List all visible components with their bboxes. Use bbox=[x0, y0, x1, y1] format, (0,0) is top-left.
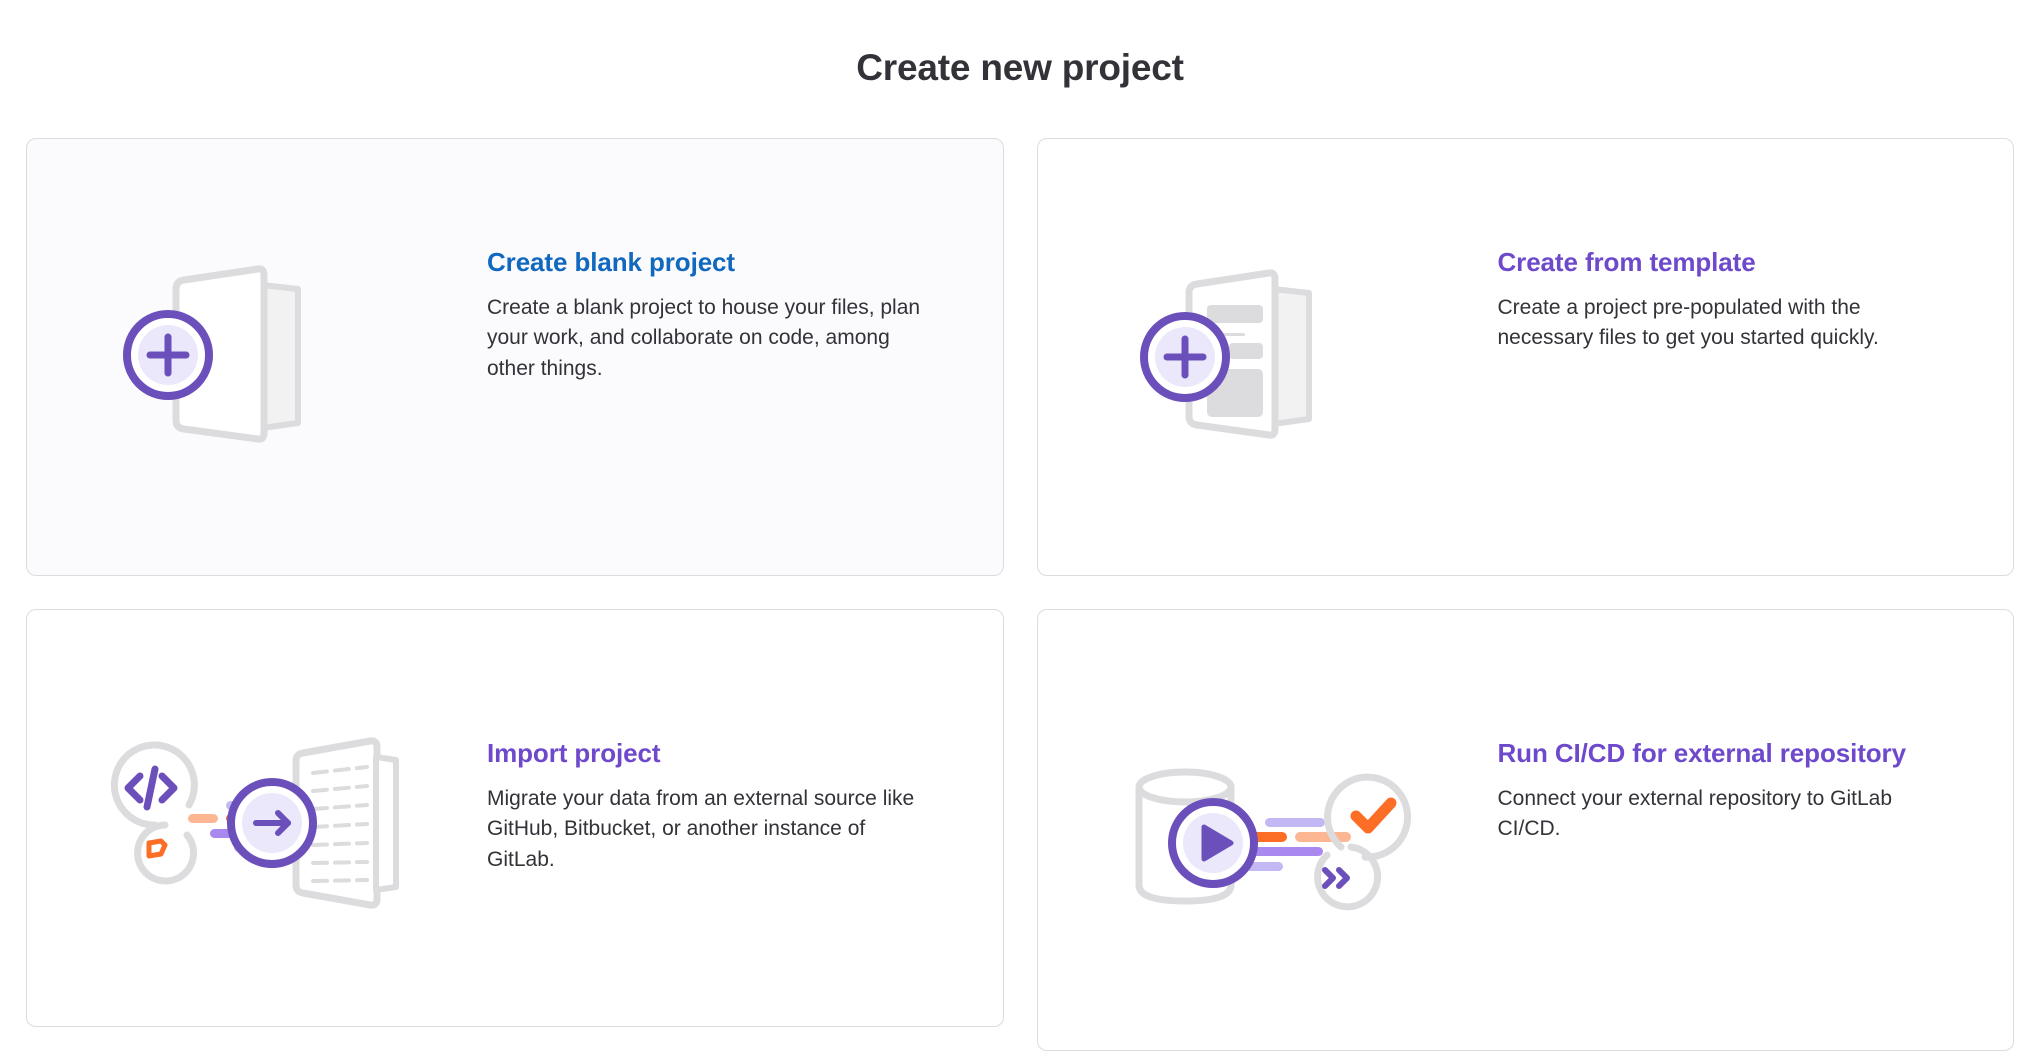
card-import-project[interactable]: Import project Migrate your data from an… bbox=[26, 609, 1004, 1027]
card-description: Create a project pre-populated with the … bbox=[1498, 293, 1938, 354]
card-title[interactable]: Run CI/CD for external repository bbox=[1498, 738, 1938, 770]
card-description: Migrate your data from an external sourc… bbox=[487, 784, 927, 875]
blank-project-illustration bbox=[27, 139, 487, 575]
card-create-from-template[interactable]: Create from template Create a project pr… bbox=[1037, 138, 2015, 576]
card-row-bottom: Import project Migrate your data from an… bbox=[26, 609, 2014, 1051]
card-body: Import project Migrate your data from an… bbox=[487, 610, 987, 875]
page-title: Create new project bbox=[0, 47, 2040, 89]
import-project-illustration bbox=[27, 610, 487, 1026]
create-new-project-page: Create new project bbox=[0, 0, 2040, 1059]
card-body: Create blank project Create a blank proj… bbox=[487, 139, 987, 384]
card-row-top: Create blank project Create a blank proj… bbox=[26, 138, 2014, 576]
template-project-svg bbox=[1123, 247, 1423, 467]
card-body: Run CI/CD for external repository Connec… bbox=[1498, 610, 1998, 845]
import-project-svg bbox=[92, 703, 432, 933]
project-type-card-grid: Create blank project Create a blank proj… bbox=[26, 138, 2014, 1051]
template-project-illustration bbox=[1038, 139, 1498, 575]
card-description: Connect your external repository to GitL… bbox=[1498, 784, 1938, 845]
cicd-external-repo-svg bbox=[1103, 715, 1443, 945]
blank-project-svg bbox=[112, 247, 412, 467]
cicd-external-repo-illustration bbox=[1038, 610, 1498, 1050]
card-title[interactable]: Import project bbox=[487, 738, 927, 770]
card-create-blank-project[interactable]: Create blank project Create a blank proj… bbox=[26, 138, 1004, 576]
card-title[interactable]: Create from template bbox=[1498, 247, 1938, 279]
card-body: Create from template Create a project pr… bbox=[1498, 139, 1998, 354]
card-description: Create a blank project to house your fil… bbox=[487, 293, 927, 384]
card-run-cicd-external-repository[interactable]: Run CI/CD for external repository Connec… bbox=[1037, 609, 2015, 1051]
card-title[interactable]: Create blank project bbox=[487, 247, 927, 279]
